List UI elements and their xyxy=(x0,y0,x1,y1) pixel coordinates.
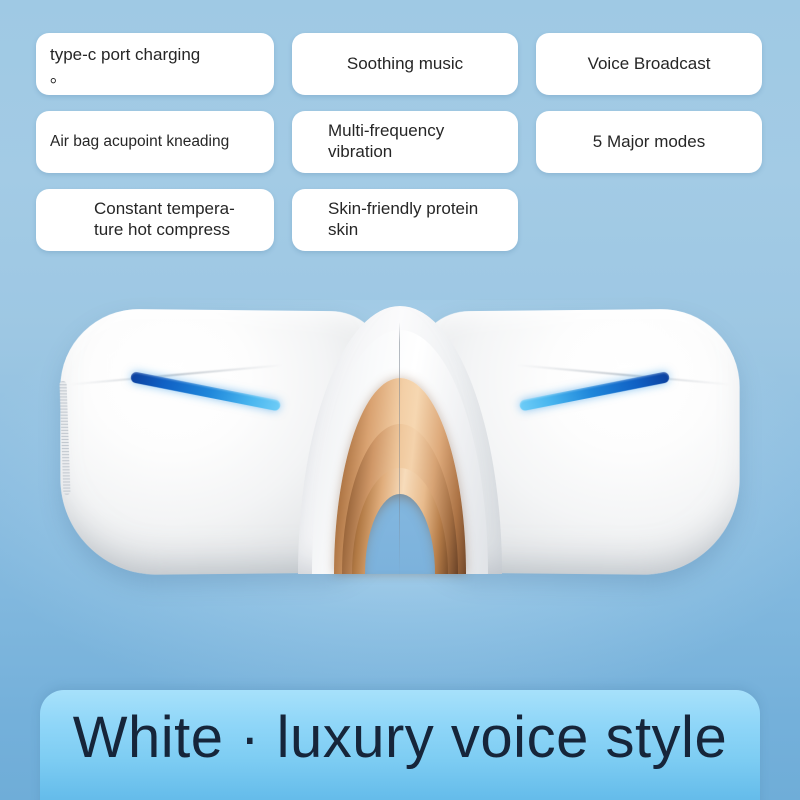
bottom-title-banner: White · luxury voice style xyxy=(40,690,760,800)
feature-tag-label: Air bag acupoint kneading xyxy=(50,133,260,152)
feature-tag-soothing-music[interactable]: Soothing music xyxy=(292,33,518,95)
feature-tag-air-bag-acupoint-kneading[interactable]: Air bag acupoint kneading xyxy=(36,111,274,173)
feature-tag-label: Constant tempera- ture hot compress xyxy=(50,199,260,240)
product-side-ribbed-texture xyxy=(59,381,70,495)
led-indicator-right-icon xyxy=(519,371,670,411)
feature-tag-type-c-port-charging[interactable]: type-c port charging 。 xyxy=(36,33,274,95)
feature-tag-skin-friendly-protein-skin[interactable]: Skin-friendly protein skin xyxy=(292,189,518,251)
feature-tag-label: Soothing music xyxy=(306,54,504,75)
banner-title-text: White · luxury voice style xyxy=(73,704,727,771)
feature-tag-label: Voice Broadcast xyxy=(550,54,748,75)
feature-tag-constant-temperature-hot-compress[interactable]: Constant tempera- ture hot compress xyxy=(36,189,274,251)
product-image-eye-massager xyxy=(62,296,738,574)
feature-tag-label: type-c port charging 。 xyxy=(50,44,260,88)
feature-tag-grid: type-c port charging 。 Soothing music Vo… xyxy=(36,33,780,251)
feature-tag-label: 5 Major modes xyxy=(550,132,748,153)
feature-tag-multi-frequency-vibration[interactable]: Multi-frequency vibration xyxy=(292,111,518,173)
product-nose-bridge xyxy=(298,304,502,574)
led-indicator-left-icon xyxy=(130,371,281,411)
feature-tag-voice-broadcast[interactable]: Voice Broadcast xyxy=(536,33,762,95)
feature-tag-five-major-modes[interactable]: 5 Major modes xyxy=(536,111,762,173)
feature-tag-label: Skin-friendly protein skin xyxy=(306,199,504,240)
product-center-split-line xyxy=(399,322,400,578)
product-showcase-scene: type-c port charging 。 Soothing music Vo… xyxy=(0,0,800,800)
feature-tag-label: Multi-frequency vibration xyxy=(306,121,504,162)
